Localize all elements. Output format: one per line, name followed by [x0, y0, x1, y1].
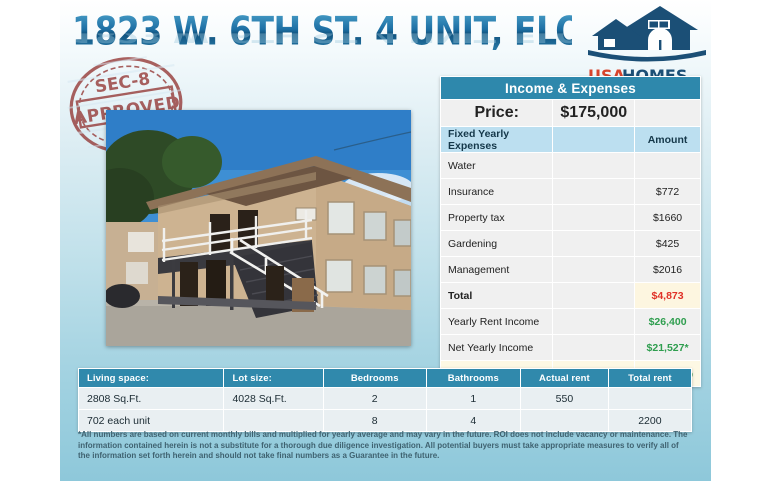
expense-mid — [553, 153, 635, 179]
expense-mid — [553, 205, 635, 231]
price-label: Price: — [441, 100, 553, 127]
yearly-rent-label: Yearly Rent Income — [441, 309, 553, 335]
net-yearly-income-row: Net Yearly Income $21,527* — [441, 335, 701, 361]
expense-label: Property tax — [441, 205, 553, 231]
yearly-rent-value: $26,400 — [635, 309, 701, 335]
expense-row: Gardening $425 — [441, 231, 701, 257]
expense-label: Gardening — [441, 231, 553, 257]
expense-label: Water — [441, 153, 553, 179]
specs-header-row: Living space: Lot size: Bedrooms Bathroo… — [79, 369, 692, 388]
price-row: Price: $175,000 — [441, 100, 701, 127]
cell-bathrooms: 4 — [426, 410, 520, 432]
total-label: Total — [441, 283, 553, 309]
price-empty-cell — [635, 100, 701, 127]
cell-living-space: 2808 Sq.Ft. — [79, 388, 224, 410]
col-actual-rent: Actual rent — [521, 369, 609, 388]
price-value: $175,000 — [553, 100, 635, 127]
net-income-mid — [553, 335, 635, 361]
page-title-reflection: 1823 W. 6TH ST. 4 UNIT, FLORIDA — [72, 33, 572, 47]
expenses-column-header: Fixed Yearly Expenses Amount — [441, 127, 701, 153]
table-row: 2808 Sq.Ft. 4028 Sq.Ft. 2 1 550 — [79, 388, 692, 410]
usahomes-logo[interactable]: USA HOMES RENTAL PROPERTIES, LLC — [586, 6, 708, 72]
expense-amount: $2016 — [635, 257, 701, 283]
net-income-label: Net Yearly Income — [441, 335, 553, 361]
col-total-rent: Total rent — [608, 369, 691, 388]
cell-bedrooms: 8 — [323, 410, 426, 432]
property-photo — [106, 110, 411, 346]
col-fixed-yearly-expenses: Fixed Yearly Expenses — [441, 127, 553, 153]
expense-row: Insurance $772 — [441, 179, 701, 205]
expense-mid — [553, 231, 635, 257]
expense-row: Management $2016 — [441, 257, 701, 283]
expense-mid — [553, 179, 635, 205]
expense-label: Management — [441, 257, 553, 283]
income-table-header: Income & Expenses — [441, 77, 701, 100]
net-income-value: $21,527* — [635, 335, 701, 361]
cell-lot-size: 4028 Sq.Ft. — [224, 388, 323, 410]
income-expenses-table: Income & Expenses Price: $175,000 Fixed … — [440, 76, 701, 387]
col-blank — [553, 127, 635, 153]
col-amount: Amount — [635, 127, 701, 153]
cell-total-rent: 2200 — [608, 410, 691, 432]
expense-row: Property tax $1660 — [441, 205, 701, 231]
expense-row: Water — [441, 153, 701, 179]
table-row: 702 each unit 8 4 2200 — [79, 410, 692, 432]
cell-bathrooms: 1 — [426, 388, 520, 410]
col-bedrooms: Bedrooms — [323, 369, 426, 388]
cell-actual-rent: 550 — [521, 388, 609, 410]
total-value: $4,873 — [635, 283, 701, 309]
income-table-body: Income & Expenses Price: $175,000 Fixed … — [441, 77, 701, 387]
col-lot-size: Lot size: — [224, 369, 323, 388]
cell-bedrooms: 2 — [323, 388, 426, 410]
cell-total-rent — [608, 388, 691, 410]
total-row: Total $4,873 — [441, 283, 701, 309]
expense-label: Insurance — [441, 179, 553, 205]
cell-actual-rent — [521, 410, 609, 432]
expense-amount: $772 — [635, 179, 701, 205]
property-specs-table: Living space: Lot size: Bedrooms Bathroo… — [78, 368, 692, 432]
cell-lot-size — [224, 410, 323, 432]
cell-living-space: 702 each unit — [79, 410, 224, 432]
yearly-rent-mid — [553, 309, 635, 335]
yearly-rent-income-row: Yearly Rent Income $26,400 — [441, 309, 701, 335]
specs-header: Living space: Lot size: Bedrooms Bathroo… — [79, 369, 692, 388]
disclaimer-text: *All numbers are based on current monthl… — [78, 430, 690, 462]
page-title-text: 1823 W. 6TH ST. 4 UNIT, FLORIDA — [72, 8, 572, 55]
income-table-title: Income & Expenses — [441, 77, 701, 100]
col-living-space: Living space: — [79, 369, 224, 388]
expense-amount: $1660 — [635, 205, 701, 231]
expense-amount: $425 — [635, 231, 701, 257]
specs-body: 2808 Sq.Ft. 4028 Sq.Ft. 2 1 550 702 each… — [79, 388, 692, 432]
expense-mid — [553, 257, 635, 283]
col-bathrooms: Bathrooms — [426, 369, 520, 388]
property-flyer: 1823 W. 6TH ST. 4 UNIT, FLORIDA 1823 W. … — [0, 0, 770, 481]
expense-amount — [635, 153, 701, 179]
house-icon — [586, 6, 708, 72]
total-mid — [553, 283, 635, 309]
